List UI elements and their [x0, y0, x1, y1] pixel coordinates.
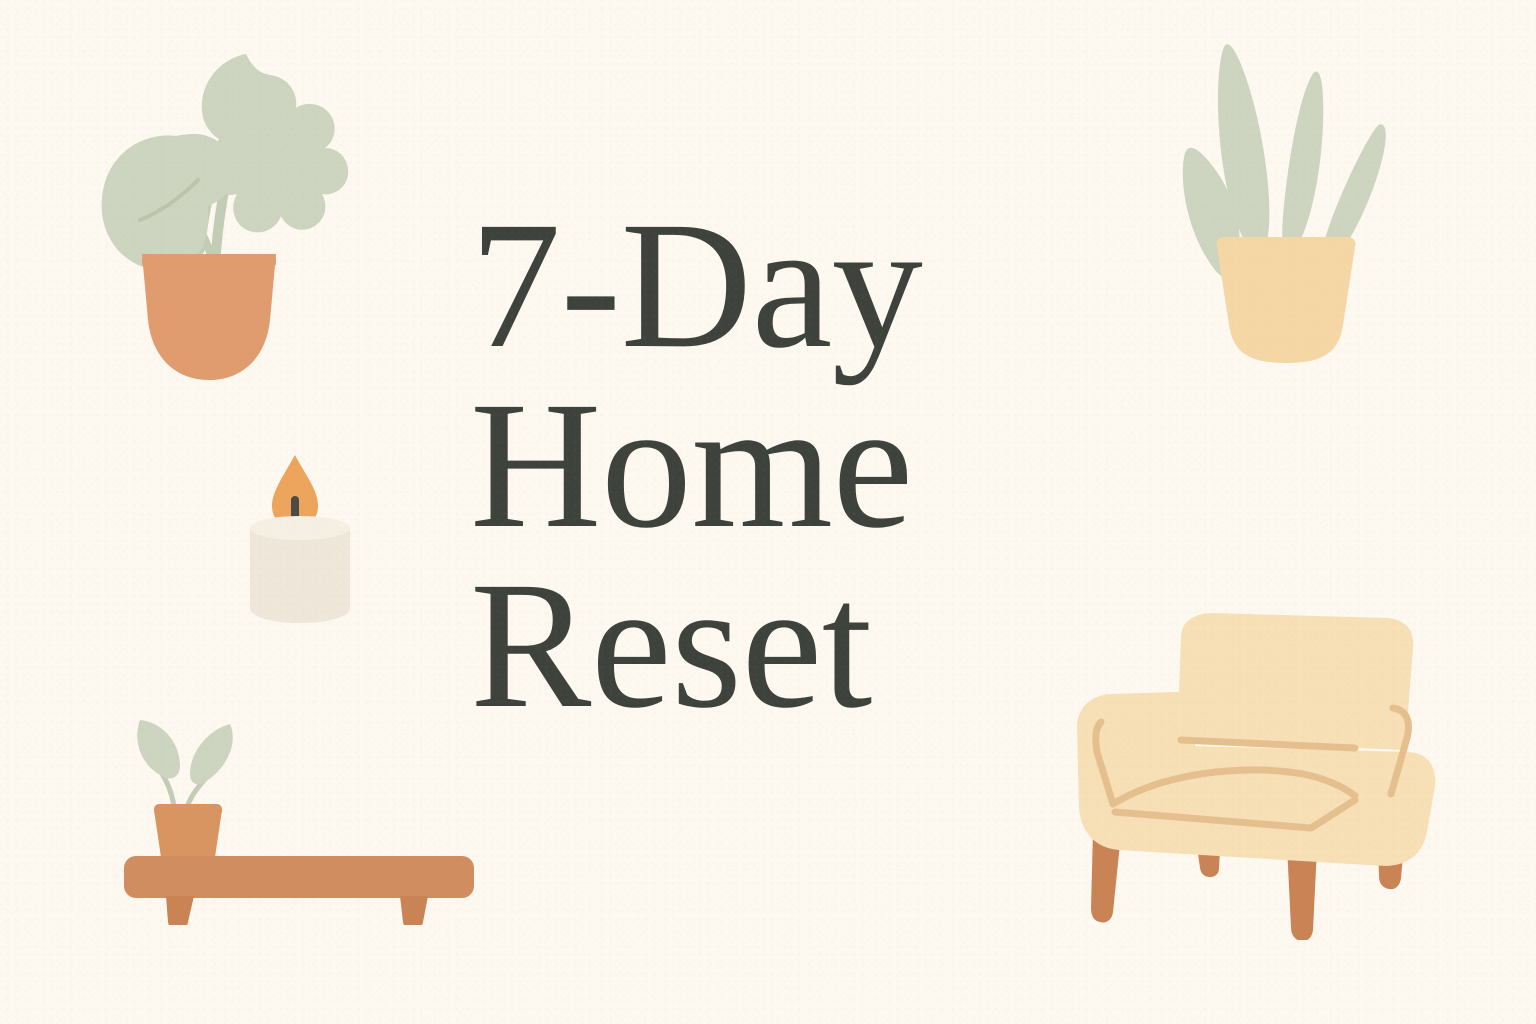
candle-top-surface: [250, 516, 350, 540]
bench-top: [124, 856, 474, 898]
candle-body: [250, 516, 350, 623]
bench-leg-left: [166, 896, 194, 925]
bench-with-plant-illustration: [118, 700, 478, 925]
pillar-candle-illustration: [238, 440, 368, 630]
headline-line-3: Reset: [470, 556, 1090, 736]
sprout-leaf-left: [137, 720, 180, 778]
headline-line-2: Home: [470, 376, 1090, 556]
bench-leg-right: [400, 896, 428, 925]
snake-plant-pot: [1216, 237, 1355, 363]
bench-structure: [124, 856, 474, 925]
bench-small-plant: [137, 720, 233, 872]
armchair-illustration: [1055, 600, 1455, 940]
sprout-leaf-right: [190, 724, 233, 784]
headline-line-1: 7-Day: [470, 196, 1090, 376]
armchair-backrest: [1177, 613, 1413, 750]
page-title: 7-Day Home Reset: [470, 196, 1090, 737]
snake-plant-illustration: [1175, 25, 1400, 385]
poster-canvas: 7-Day Home Reset: [0, 0, 1536, 1024]
monstera-terracotta-pot: [142, 254, 276, 380]
monstera-plant-illustration: [80, 20, 350, 390]
